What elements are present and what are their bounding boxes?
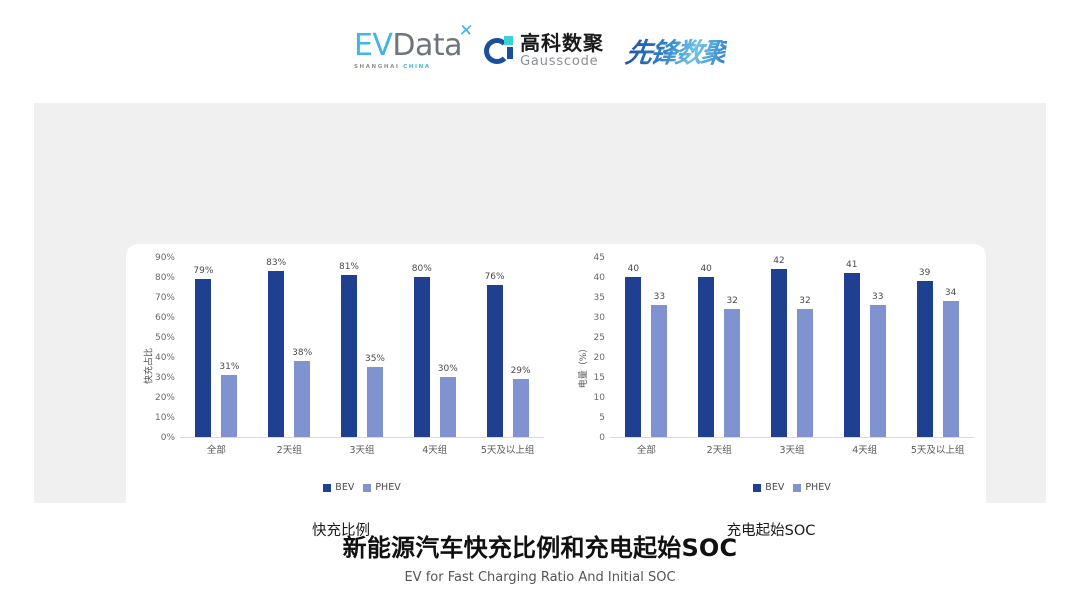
bar-value-label: 76% bbox=[485, 272, 505, 282]
bar-value-label: 42 bbox=[773, 256, 784, 266]
x-tick-label: 5天及以上组 bbox=[901, 442, 974, 456]
bar-pair: 81%35% bbox=[326, 258, 399, 437]
legend-label: PHEV bbox=[805, 482, 830, 493]
y-tick-label: 30 bbox=[594, 313, 605, 323]
bar-value-label: 40 bbox=[628, 264, 639, 274]
bar-group: 76%29% bbox=[471, 258, 544, 437]
bar-group: 4133 bbox=[828, 258, 901, 437]
bar-phev: 38% bbox=[294, 361, 310, 437]
legend-item-phev[interactable]: PHEV bbox=[363, 482, 400, 493]
xianfeng-cn-text: 先锋数聚 bbox=[623, 31, 728, 70]
legend-label: BEV bbox=[765, 482, 784, 493]
bar-group: 79%31% bbox=[180, 258, 253, 437]
y-tick-label: 15 bbox=[594, 373, 605, 383]
gausscode-cn-text: 高科数聚 bbox=[520, 33, 604, 53]
chart-legend: BEVPHEV bbox=[556, 482, 986, 493]
bar-phev: 32 bbox=[724, 309, 740, 437]
plot-area: 快充占比0%10%20%30%40%50%60%70%80%90%79%31%8… bbox=[126, 258, 556, 473]
y-tick-label: 80% bbox=[155, 273, 175, 283]
y-tick-label: 70% bbox=[155, 293, 175, 303]
y-tick-label: 10% bbox=[155, 413, 175, 423]
y-tick-label: 50% bbox=[155, 333, 175, 343]
legend-swatch-icon bbox=[793, 484, 801, 492]
chart-legend: BEVPHEV bbox=[126, 482, 556, 493]
bar-pair: 4133 bbox=[828, 258, 901, 437]
chart-block-2: 电量（%）05101520253035404540334032423241333… bbox=[556, 244, 986, 574]
x-tick-label: 4天组 bbox=[398, 442, 471, 456]
evdata-data-text: Data bbox=[392, 31, 462, 61]
bar-pair: 4232 bbox=[756, 258, 829, 437]
bar-groups: 40334032423241333934 bbox=[610, 258, 974, 437]
gausscode-wordmark: 高科数聚 Gausscode bbox=[520, 33, 604, 68]
bar-value-label: 34 bbox=[945, 288, 956, 298]
legend-item-phev[interactable]: PHEV bbox=[793, 482, 830, 493]
x-tick-label: 2天组 bbox=[253, 442, 326, 456]
evdata-tagline-shanghai: SHANGHAI bbox=[354, 64, 400, 70]
legend-swatch-icon bbox=[323, 484, 331, 492]
bar-value-label: 80% bbox=[412, 264, 432, 274]
y-tick-label: 45 bbox=[594, 253, 605, 263]
bar-group: 3934 bbox=[901, 258, 974, 437]
y-tick-label: 90% bbox=[155, 253, 175, 263]
bar-value-label: 35% bbox=[365, 354, 385, 364]
bar-value-label: 41 bbox=[846, 260, 857, 270]
bar-bev: 76% bbox=[487, 285, 503, 437]
evdata-tagline-china: CHINA bbox=[403, 64, 431, 70]
bar-pair: 76%29% bbox=[471, 258, 544, 437]
y-tick-label: 35 bbox=[594, 293, 605, 303]
bar-value-label: 79% bbox=[193, 266, 213, 276]
bar-pair: 79%31% bbox=[180, 258, 253, 437]
bar-group: 80%30% bbox=[398, 258, 471, 437]
legend-label: BEV bbox=[335, 482, 354, 493]
gausscode-square-icon bbox=[504, 36, 513, 45]
footer: 新能源汽车快充比例和充电起始SOC EV for Fast Charging R… bbox=[0, 528, 1080, 585]
bar-value-label: 29% bbox=[511, 366, 531, 376]
bar-phev: 34 bbox=[943, 301, 959, 437]
bar-group: 83%38% bbox=[253, 258, 326, 437]
bar-group: 4032 bbox=[683, 258, 756, 437]
bar-phev: 30% bbox=[440, 377, 456, 437]
bar-phev: 33 bbox=[651, 305, 667, 437]
bar-group: 4033 bbox=[610, 258, 683, 437]
x-tick-label: 4天组 bbox=[828, 442, 901, 456]
x-tick-label: 5天及以上组 bbox=[471, 442, 544, 456]
bar-phev: 29% bbox=[513, 379, 529, 437]
y-tick-label: 20 bbox=[594, 353, 605, 363]
x-tick-label: 全部 bbox=[180, 442, 253, 456]
bar-phev: 32 bbox=[797, 309, 813, 437]
x-tick-label: 2天组 bbox=[683, 442, 756, 456]
bar-value-label: 30% bbox=[438, 364, 458, 374]
logo-evdata: EV Data ✕ SHANGHAI CHINA bbox=[354, 31, 462, 70]
x-tick-label: 3天组 bbox=[756, 442, 829, 456]
y-tick-label: 60% bbox=[155, 313, 175, 323]
y-tick-label: 40% bbox=[155, 353, 175, 363]
bar-value-label: 33 bbox=[872, 292, 883, 302]
evdata-ev-text: EV bbox=[354, 31, 392, 61]
bar-phev: 31% bbox=[221, 375, 237, 437]
bar-bev: 39 bbox=[917, 281, 933, 437]
bar-pair: 4033 bbox=[610, 258, 683, 437]
bar-groups: 79%31%83%38%81%35%80%30%76%29% bbox=[180, 258, 544, 437]
y-tick-label: 20% bbox=[155, 393, 175, 403]
bar-value-label: 32 bbox=[726, 296, 737, 306]
bar-bev: 41 bbox=[844, 273, 860, 437]
evdata-cross-icon: ✕ bbox=[458, 22, 474, 39]
y-axis-ticks: 051015202530354045 bbox=[574, 258, 608, 438]
logo-xianfeng: 先锋数聚 bbox=[626, 31, 726, 70]
plot-canvas: 79%31%83%38%81%35%80%30%76%29% bbox=[180, 258, 544, 438]
plot-area: 电量（%）05101520253035404540334032423241333… bbox=[556, 258, 986, 473]
bar-group: 81%35% bbox=[326, 258, 399, 437]
logo-bar: EV Data ✕ SHANGHAI CHINA 高科数聚 Gausscode … bbox=[0, 22, 1080, 78]
x-axis-ticks: 全部2天组3天组4天组5天及以上组 bbox=[610, 442, 974, 456]
bar-bev: 42 bbox=[771, 269, 787, 437]
evdata-tagline: SHANGHAI CHINA bbox=[354, 64, 431, 70]
legend-item-bev[interactable]: BEV bbox=[323, 482, 354, 493]
bar-value-label: 40 bbox=[700, 264, 711, 274]
bar-pair: 4032 bbox=[683, 258, 756, 437]
bar-bev: 40 bbox=[625, 277, 641, 437]
chart-block-1: 快充占比0%10%20%30%40%50%60%70%80%90%79%31%8… bbox=[126, 244, 556, 574]
bar-bev: 83% bbox=[268, 271, 284, 437]
legend-label: PHEV bbox=[375, 482, 400, 493]
bar-value-label: 33 bbox=[654, 292, 665, 302]
y-tick-label: 40 bbox=[594, 273, 605, 283]
bar-value-label: 81% bbox=[339, 262, 359, 272]
x-tick-label: 3天组 bbox=[326, 442, 399, 456]
y-tick-label: 5 bbox=[599, 413, 605, 423]
bar-value-label: 39 bbox=[919, 268, 930, 278]
page-subtitle: EV for Fast Charging Ratio And Initial S… bbox=[0, 570, 1080, 585]
gausscode-g-mark-icon bbox=[484, 35, 514, 65]
bar-phev: 35% bbox=[367, 367, 383, 437]
bar-bev: 79% bbox=[195, 279, 211, 437]
y-tick-label: 10 bbox=[594, 393, 605, 403]
legend-swatch-icon bbox=[753, 484, 761, 492]
gausscode-bar-icon bbox=[507, 47, 513, 59]
bar-value-label: 38% bbox=[292, 348, 312, 358]
plot-canvas: 40334032423241333934 bbox=[610, 258, 974, 438]
x-axis-ticks: 全部2天组3天组4天组5天及以上组 bbox=[180, 442, 544, 456]
legend-swatch-icon bbox=[363, 484, 371, 492]
content-panel: 快充占比0%10%20%30%40%50%60%70%80%90%79%31%8… bbox=[34, 103, 1046, 503]
y-tick-label: 25 bbox=[594, 333, 605, 343]
bar-value-label: 83% bbox=[266, 258, 286, 268]
bar-pair: 80%30% bbox=[398, 258, 471, 437]
bar-pair: 3934 bbox=[901, 258, 974, 437]
bar-group: 4232 bbox=[756, 258, 829, 437]
chart-card: 快充占比0%10%20%30%40%50%60%70%80%90%79%31%8… bbox=[126, 244, 986, 574]
bar-pair: 83%38% bbox=[253, 258, 326, 437]
evdata-wordmark: EV Data ✕ bbox=[354, 31, 462, 61]
x-tick-label: 全部 bbox=[610, 442, 683, 456]
bar-value-label: 32 bbox=[799, 296, 810, 306]
bar-bev: 81% bbox=[341, 275, 357, 437]
y-axis-ticks: 0%10%20%30%40%50%60%70%80%90% bbox=[144, 258, 178, 438]
bar-bev: 80% bbox=[414, 277, 430, 437]
charts-container: 快充占比0%10%20%30%40%50%60%70%80%90%79%31%8… bbox=[126, 244, 986, 574]
y-tick-label: 0% bbox=[161, 433, 175, 443]
legend-item-bev[interactable]: BEV bbox=[753, 482, 784, 493]
y-tick-label: 0 bbox=[599, 433, 605, 443]
logo-gausscode: 高科数聚 Gausscode bbox=[484, 33, 604, 68]
bar-value-label: 31% bbox=[219, 362, 239, 372]
bar-bev: 40 bbox=[698, 277, 714, 437]
y-tick-label: 30% bbox=[155, 373, 175, 383]
gausscode-en-text: Gausscode bbox=[520, 55, 604, 68]
bar-phev: 33 bbox=[870, 305, 886, 437]
slide-root: EV Data ✕ SHANGHAI CHINA 高科数聚 Gausscode … bbox=[0, 0, 1080, 608]
page-title: 新能源汽车快充比例和充电起始SOC bbox=[0, 528, 1080, 563]
